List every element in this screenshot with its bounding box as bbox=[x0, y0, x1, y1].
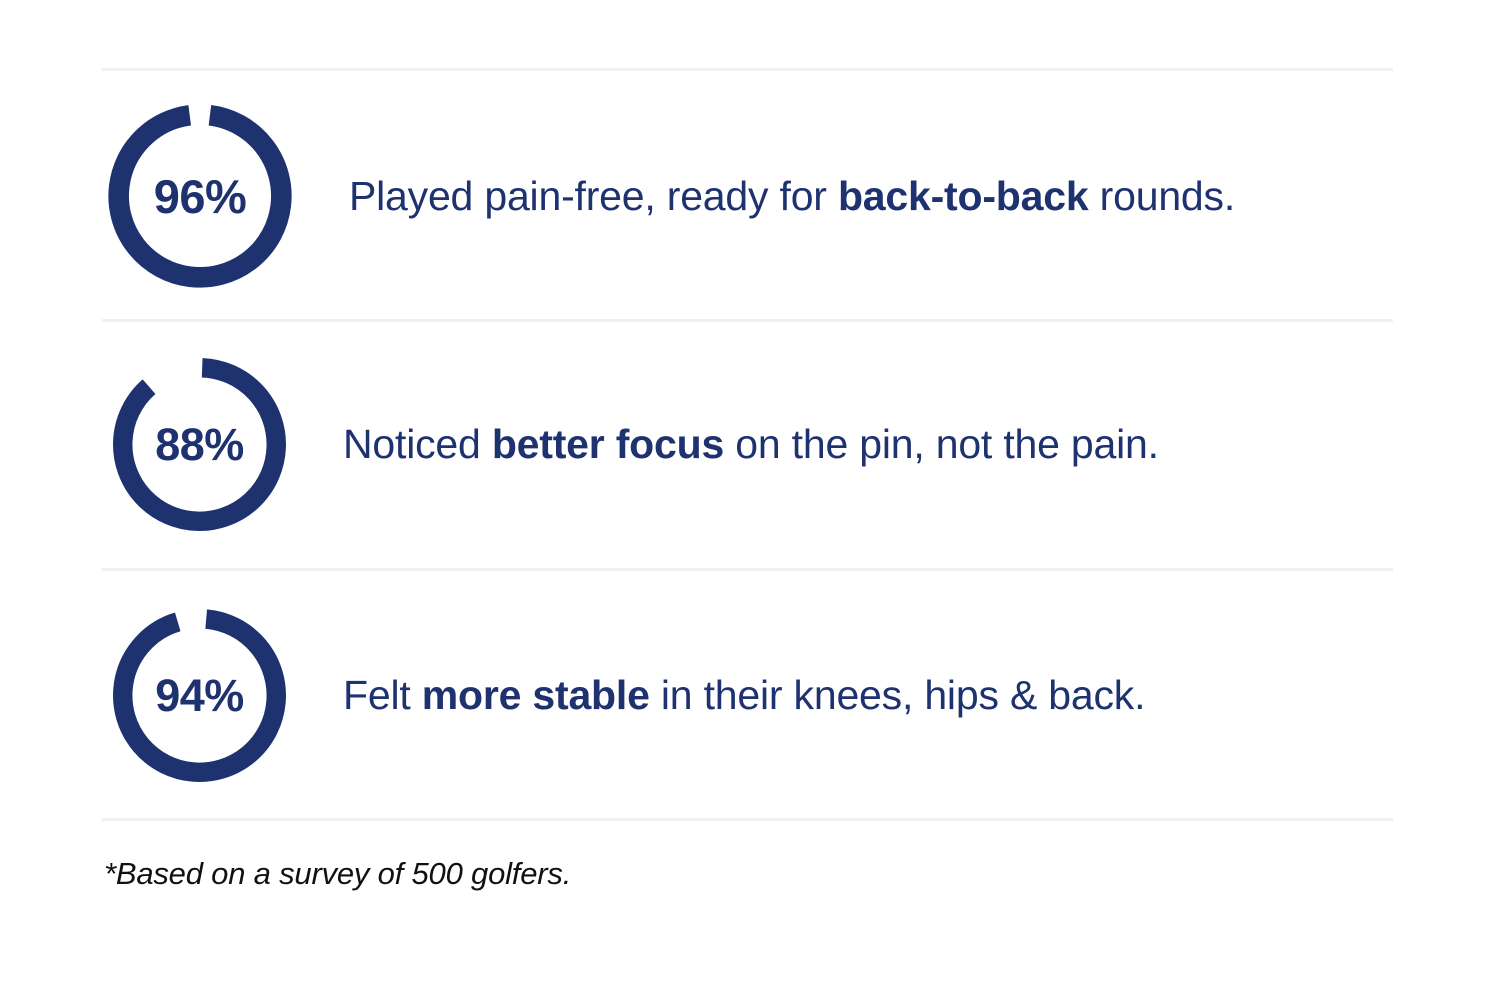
divider-row1-row2 bbox=[102, 319, 1393, 322]
statement-lead: Played pain-free, ready for bbox=[349, 173, 838, 219]
donut-96-chart: 96% bbox=[102, 98, 298, 294]
divider-bottom bbox=[102, 818, 1393, 821]
statement-emphasis: more stable bbox=[422, 672, 650, 718]
stat-row: 94% Felt more stable in their knees, hip… bbox=[102, 596, 1422, 794]
statement-lead: Noticed bbox=[343, 421, 492, 467]
statement-trail: in their knees, hips & back. bbox=[650, 672, 1146, 718]
stat-statement: Felt more stable in their knees, hips & … bbox=[343, 671, 1145, 719]
donut-88-chart: 88% bbox=[107, 352, 292, 537]
statement-lead: Felt bbox=[343, 672, 422, 718]
divider-top bbox=[102, 68, 1393, 71]
divider-row2-row3 bbox=[102, 568, 1393, 571]
stat-row: 96% Played pain-free, ready for back-to-… bbox=[102, 96, 1422, 296]
statement-emphasis: better focus bbox=[492, 421, 724, 467]
donut-96-percent-label: 96% bbox=[102, 98, 298, 294]
donut-94-chart: 94% bbox=[107, 603, 292, 788]
statement-trail: on the pin, not the pain. bbox=[724, 421, 1159, 467]
stat-row: 88% Noticed better focus on the pin, not… bbox=[102, 346, 1422, 542]
stat-statement: Played pain-free, ready for back-to-back… bbox=[349, 172, 1235, 220]
statement-trail: rounds. bbox=[1088, 173, 1235, 219]
statement-emphasis: back-to-back bbox=[838, 173, 1089, 219]
donut-88-percent-label: 88% bbox=[107, 352, 292, 537]
donut-94-percent-label: 94% bbox=[107, 603, 292, 788]
stats-board: 96% Played pain-free, ready for back-to-… bbox=[0, 0, 1500, 1000]
stat-statement: Noticed better focus on the pin, not the… bbox=[343, 420, 1159, 468]
survey-footnote: *Based on a survey of 500 golfers. bbox=[104, 856, 571, 892]
